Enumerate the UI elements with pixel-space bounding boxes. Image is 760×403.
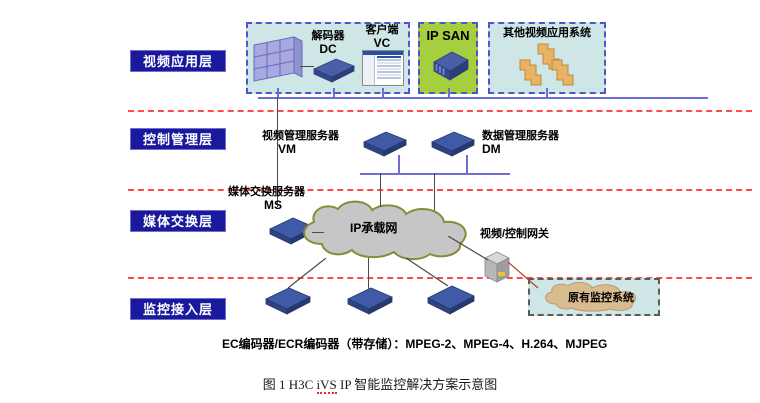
encoder-device-3 — [424, 284, 476, 318]
bus-drop-ipsan — [448, 88, 450, 98]
cloud-gateway-link — [448, 236, 490, 262]
client-label: 客户端 — [358, 24, 406, 36]
decoder-sub-label: DC — [300, 43, 356, 55]
layer-badge-surveillance-access: 监控接入层 — [130, 298, 226, 320]
client-sub-label: VC — [358, 37, 406, 49]
ip-san-label: IP SAN — [418, 30, 478, 42]
application-bus-bar — [258, 97, 708, 99]
decoder-label: 解码器 — [300, 30, 356, 42]
vm-server-label: 视频管理服务器 — [262, 130, 339, 142]
legacy-system-cloud: 原有监控系统 — [540, 282, 652, 312]
ms-server-label: 媒体交换服务器 — [228, 186, 305, 198]
cloud-encoder-link-2 — [368, 258, 369, 290]
ip-san-storage-icon — [428, 48, 470, 86]
gateway-legacy-link — [508, 262, 548, 290]
caption-spellcheck-term: iVS — [317, 377, 337, 394]
layer-badge-video-application: 视频应用层 — [130, 50, 226, 72]
control-bus-bar — [360, 173, 510, 175]
diagram-canvas: 视频应用层 控制管理层 媒体交换层 监控接入层 解码器 DC — [0, 0, 760, 403]
cloud-encoder-link-3 — [406, 258, 452, 288]
bus-drop-decoder — [333, 88, 335, 98]
layer-separator-2 — [128, 189, 752, 191]
encoder-device-2 — [344, 286, 394, 318]
client-window-icon — [362, 50, 404, 86]
dm-server-device — [428, 130, 476, 160]
layer-separator-1 — [128, 110, 752, 112]
vm-server-sub-label: VM — [278, 143, 296, 155]
vm-server-device — [360, 130, 408, 160]
bus-drop-other — [546, 88, 548, 98]
layer-badge-control-management: 控制管理层 — [130, 128, 226, 150]
encoders-note: EC编码器/ECR编码器（带存储）：MPEG-2、MPEG-4、H.264、MJ… — [222, 335, 607, 352]
caption-prefix: 图 1 H3C — [263, 377, 317, 392]
dm-server-sub-label: DM — [482, 143, 501, 155]
legacy-system-label: 原有监控系统 — [568, 292, 634, 304]
layer-badge-media-exchange: 媒体交换层 — [130, 210, 226, 232]
other-systems-label: 其他视频应用系统 — [488, 27, 606, 39]
vm-server-drop — [398, 155, 400, 173]
caption-suffix: IP 智能监控解决方案示意图 — [337, 377, 498, 392]
puzzle-pieces-icon — [508, 42, 586, 90]
dm-server-label: 数据管理服务器 — [482, 130, 559, 142]
ms-to-cloud-link — [312, 232, 324, 233]
decoder-device — [310, 55, 356, 85]
ms-server-sub-label: MS — [264, 199, 282, 211]
video-wall — [252, 33, 306, 85]
figure-caption: 图 1 H3C iVS IP 智能监控解决方案示意图 — [0, 374, 760, 393]
bus-drop-client — [382, 88, 384, 98]
gateway-label: 视频/控制网关 — [480, 228, 549, 240]
control-cloud-link-2 — [380, 173, 381, 207]
cloud-encoder-link-1 — [286, 258, 328, 290]
dm-server-drop — [466, 155, 468, 173]
cloud-label: IP承载网 — [350, 222, 397, 234]
encoder-device-1 — [262, 286, 312, 318]
wall-decoder-link — [300, 66, 314, 67]
